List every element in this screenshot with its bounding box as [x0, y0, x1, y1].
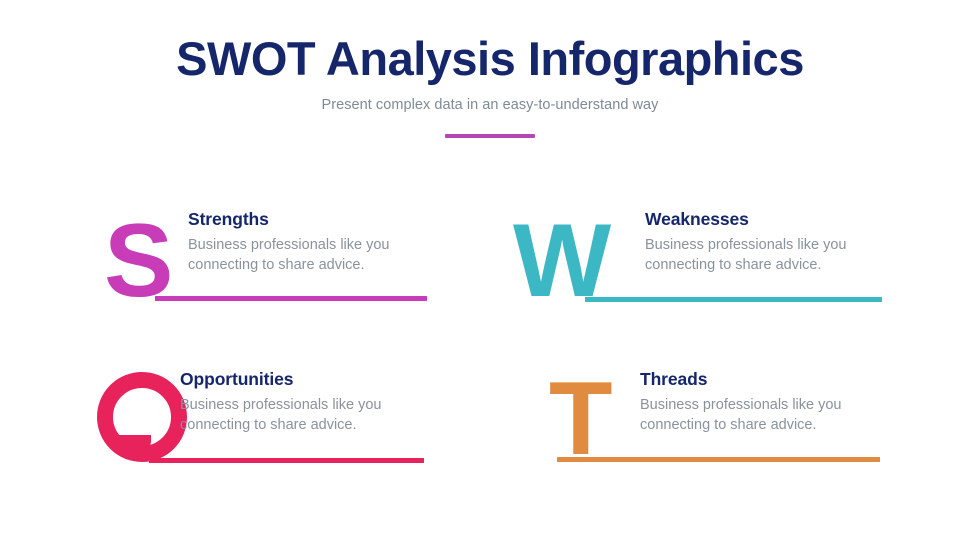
quadrant-body-threads: Business professionals like you connecti… [640, 396, 855, 435]
quadrant-strengths[interactable]: S Strengths Business professionals like … [100, 203, 430, 313]
title-underline-rule [445, 134, 535, 138]
slide-header: SWOT Analysis Infographics Present compl… [0, 34, 980, 138]
swot-infographic-slide: SWOT Analysis Infographics Present compl… [0, 0, 980, 551]
quadrant-body-weaknesses: Business professionals like you connecti… [645, 236, 860, 275]
quadrant-body-strengths: Business professionals like you connecti… [188, 236, 403, 275]
quadrant-heading-threads: Threads [640, 370, 855, 389]
letter-t-icon: T [549, 367, 613, 471]
quadrant-body-opportunities: Business professionals like you connecti… [180, 396, 395, 435]
page-title: SWOT Analysis Infographics [0, 34, 980, 83]
quadrant-threads[interactable]: T Threads Business professionals like yo… [545, 363, 883, 473]
quadrant-text-threads: Threads Business professionals like you … [640, 370, 855, 435]
quadrant-rule-weaknesses [585, 297, 882, 302]
quadrant-heading-strengths: Strengths [188, 210, 403, 229]
quadrant-rule-strengths [155, 296, 427, 301]
page-subtitle: Present complex data in an easy-to-under… [0, 97, 980, 114]
quadrant-text-weaknesses: Weaknesses Business professionals like y… [645, 210, 860, 275]
quadrant-weaknesses[interactable]: W Weaknesses Business professionals like… [513, 203, 883, 313]
quadrant-rule-opportunities [149, 458, 424, 463]
quadrant-heading-opportunities: Opportunities [180, 370, 395, 389]
quadrant-text-opportunities: Opportunities Business professionals lik… [180, 370, 395, 435]
quadrant-heading-weaknesses: Weaknesses [645, 210, 860, 229]
quadrant-text-strengths: Strengths Business professionals like yo… [188, 210, 403, 275]
quadrant-rule-threads [557, 457, 880, 462]
quadrant-opportunities[interactable]: Opportunities Business professionals lik… [92, 363, 430, 473]
